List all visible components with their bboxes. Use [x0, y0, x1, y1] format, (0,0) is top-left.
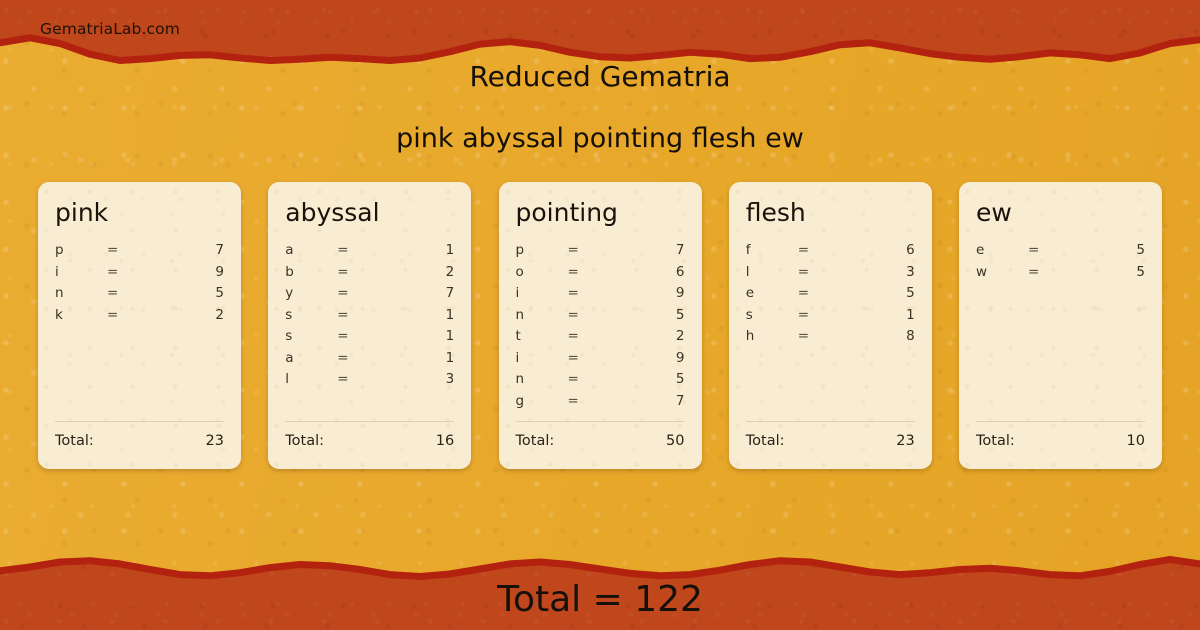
letter-value: 7 [608, 393, 685, 409]
letter-value-row: f=6 [746, 242, 915, 264]
letter-value-list: f=6l=3e=5s=1h=8 [746, 242, 915, 350]
letter-value-row: n=5 [516, 307, 685, 329]
letter-value-row: b=2 [285, 264, 454, 286]
equals-sign: = [568, 285, 608, 301]
equals-sign: = [798, 285, 838, 301]
word-total-label: Total: [285, 433, 324, 449]
letter-value: 5 [838, 285, 915, 301]
letter-label: n [55, 285, 107, 301]
letter-label: g [516, 393, 568, 409]
word-card-footer: Total:50 [516, 421, 685, 449]
letter-value-row: k=2 [55, 307, 224, 329]
letter-label: p [55, 242, 107, 258]
word-card-title: flesh [746, 200, 915, 226]
equals-sign: = [107, 307, 147, 323]
letter-value: 1 [377, 350, 454, 366]
word-card: ewe=5w=5Total:10 [959, 182, 1162, 469]
equals-sign: = [798, 264, 838, 280]
letter-value: 9 [147, 264, 224, 280]
letter-value: 6 [608, 264, 685, 280]
letter-value-row: t=2 [516, 328, 685, 350]
word-total-row: Total:23 [746, 433, 915, 449]
letter-label: i [516, 285, 568, 301]
letter-value-row: o=6 [516, 264, 685, 286]
divider [976, 421, 1145, 422]
letter-value: 5 [608, 307, 685, 323]
letter-label: n [516, 371, 568, 387]
word-card-footer: Total:16 [285, 421, 454, 449]
letter-value: 3 [377, 371, 454, 387]
equals-sign: = [568, 371, 608, 387]
letter-value: 1 [838, 307, 915, 323]
letter-value-row: s=1 [285, 328, 454, 350]
word-total-row: Total:16 [285, 433, 454, 449]
word-total-label: Total: [55, 433, 94, 449]
letter-label: o [516, 264, 568, 280]
letter-label: s [285, 307, 337, 323]
letter-value-list: p=7i=9n=5k=2 [55, 242, 224, 328]
letter-value: 8 [838, 328, 915, 344]
equals-sign: = [107, 242, 147, 258]
letter-value-row: s=1 [746, 307, 915, 329]
letter-value: 9 [608, 285, 685, 301]
letter-value: 2 [608, 328, 685, 344]
letter-label: i [55, 264, 107, 280]
letter-value-list: e=5w=5 [976, 242, 1145, 285]
word-card-list: pinkp=7i=9n=5k=2Total:23abyssala=1b=2y=7… [38, 182, 1162, 469]
letter-value: 1 [377, 307, 454, 323]
letter-value-row: e=5 [976, 242, 1145, 264]
equals-sign: = [798, 242, 838, 258]
word-total-label: Total: [746, 433, 785, 449]
equals-sign: = [568, 350, 608, 366]
word-card-title: pink [55, 200, 224, 226]
letter-value: 7 [608, 242, 685, 258]
equals-sign: = [107, 285, 147, 301]
letter-value: 5 [1068, 264, 1145, 280]
letter-value-row: n=5 [516, 371, 685, 393]
letter-value-row: e=5 [746, 285, 915, 307]
letter-value: 5 [608, 371, 685, 387]
word-total-value: 50 [666, 433, 684, 449]
word-total-label: Total: [976, 433, 1015, 449]
letter-label: l [285, 371, 337, 387]
word-total-value: 10 [1127, 433, 1145, 449]
equals-sign: = [568, 328, 608, 344]
letter-label: t [516, 328, 568, 344]
equals-sign: = [798, 307, 838, 323]
letter-value-list: p=7o=6i=9n=5t=2i=9n=5g=7 [516, 242, 685, 414]
letter-value-row: h=8 [746, 328, 915, 350]
equals-sign: = [1028, 242, 1068, 258]
letter-label: l [746, 264, 798, 280]
letter-value-row: a=1 [285, 350, 454, 372]
equals-sign: = [568, 307, 608, 323]
word-total-row: Total:23 [55, 433, 224, 449]
equals-sign: = [337, 371, 377, 387]
word-card-footer: Total:23 [55, 421, 224, 449]
letter-label: i [516, 350, 568, 366]
equals-sign: = [568, 393, 608, 409]
letter-value: 7 [377, 285, 454, 301]
letter-value: 1 [377, 242, 454, 258]
letter-value-row: p=7 [516, 242, 685, 264]
divider [285, 421, 454, 422]
page-title: Reduced Gematria [0, 60, 1200, 93]
word-card: pinkp=7i=9n=5k=2Total:23 [38, 182, 241, 469]
letter-label: h [746, 328, 798, 344]
letter-value-row: w=5 [976, 264, 1145, 286]
word-card-footer: Total:10 [976, 421, 1145, 449]
letter-value: 6 [838, 242, 915, 258]
letter-value-row: i=9 [516, 285, 685, 307]
word-total-row: Total:10 [976, 433, 1145, 449]
letter-value-row: g=7 [516, 393, 685, 415]
letter-label: a [285, 350, 337, 366]
letter-label: e [746, 285, 798, 301]
letter-label: e [976, 242, 1028, 258]
letter-value: 2 [377, 264, 454, 280]
word-total-value: 16 [436, 433, 454, 449]
letter-value: 5 [147, 285, 224, 301]
letter-value-row: a=1 [285, 242, 454, 264]
phrase-text: pink abyssal pointing flesh ew [0, 123, 1200, 154]
letter-label: p [516, 242, 568, 258]
equals-sign: = [337, 307, 377, 323]
equals-sign: = [568, 242, 608, 258]
letter-value: 5 [1068, 242, 1145, 258]
word-card: pointingp=7o=6i=9n=5t=2i=9n=5g=7Total:50 [499, 182, 702, 469]
equals-sign: = [337, 242, 377, 258]
equals-sign: = [568, 264, 608, 280]
letter-value: 7 [147, 242, 224, 258]
letter-value-row: l=3 [746, 264, 915, 286]
divider [55, 421, 224, 422]
gematria-card-image: GematriaLab.com Reduced Gematria pink ab… [0, 0, 1200, 630]
word-total-value: 23 [896, 433, 914, 449]
letter-value-row: i=9 [516, 350, 685, 372]
letter-value: 1 [377, 328, 454, 344]
letter-value: 3 [838, 264, 915, 280]
equals-sign: = [337, 264, 377, 280]
letter-value-row: y=7 [285, 285, 454, 307]
equals-sign: = [1028, 264, 1068, 280]
letter-value: 2 [147, 307, 224, 323]
word-card: fleshf=6l=3e=5s=1h=8Total:23 [729, 182, 932, 469]
word-card-footer: Total:23 [746, 421, 915, 449]
word-total-label: Total: [516, 433, 555, 449]
divider [746, 421, 915, 422]
word-card-title: abyssal [285, 200, 454, 226]
word-total-row: Total:50 [516, 433, 685, 449]
letter-value-row: l=3 [285, 371, 454, 393]
letter-value: 9 [608, 350, 685, 366]
letter-label: s [746, 307, 798, 323]
letter-value-row: p=7 [55, 242, 224, 264]
letter-label: y [285, 285, 337, 301]
letter-label: k [55, 307, 107, 323]
site-logo[interactable]: GematriaLab.com [40, 20, 180, 38]
letter-value-row: i=9 [55, 264, 224, 286]
equals-sign: = [337, 285, 377, 301]
word-card-title: pointing [516, 200, 685, 226]
word-card: abyssala=1b=2y=7s=1s=1a=1l=3Total:16 [268, 182, 471, 469]
letter-value-list: a=1b=2y=7s=1s=1a=1l=3 [285, 242, 454, 393]
letter-label: f [746, 242, 798, 258]
equals-sign: = [337, 350, 377, 366]
word-card-title: ew [976, 200, 1145, 226]
word-total-value: 23 [206, 433, 224, 449]
equals-sign: = [337, 328, 377, 344]
grand-total: Total = 122 [0, 579, 1200, 620]
letter-label: a [285, 242, 337, 258]
letter-label: n [516, 307, 568, 323]
equals-sign: = [107, 264, 147, 280]
letter-value-row: n=5 [55, 285, 224, 307]
equals-sign: = [798, 328, 838, 344]
letter-label: w [976, 264, 1028, 280]
divider [516, 421, 685, 422]
letter-label: s [285, 328, 337, 344]
letter-label: b [285, 264, 337, 280]
letter-value-row: s=1 [285, 307, 454, 329]
